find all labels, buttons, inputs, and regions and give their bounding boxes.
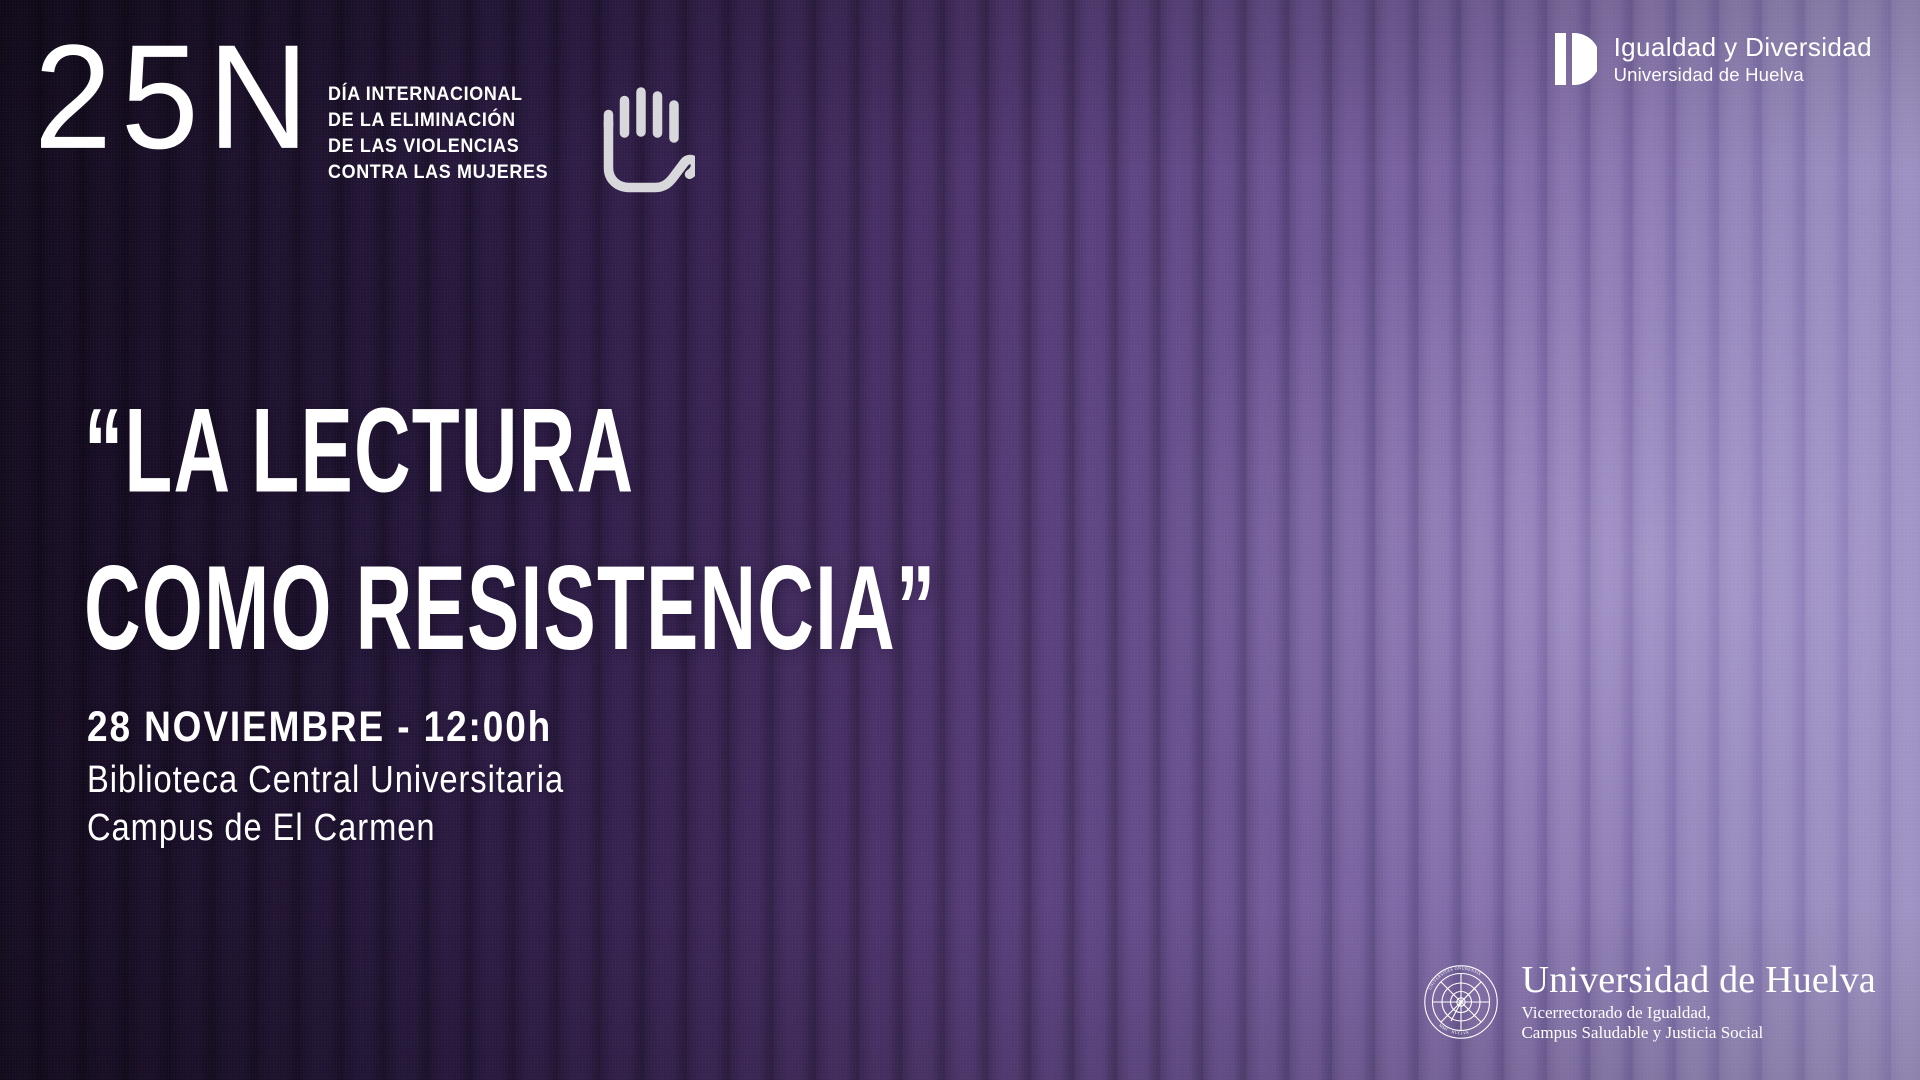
campaign-subtitle-line-4: CONTRA LAS MUJERES (328, 160, 548, 186)
campaign-subtitle-line-2: DE LA ELIMINACIÓN (328, 108, 548, 134)
campaign-code-25n: 25N (34, 26, 318, 168)
poster-canvas: 25N DÍA INTERNACIONAL DE LA ELIMINACIÓN … (0, 0, 1920, 1080)
campaign-subtitle-line-3: DE LAS VIOLENCIAS (328, 134, 548, 160)
headline-line-1: “LA LECTURA (84, 372, 936, 530)
event-venue: Biblioteca Central Universitaria (87, 757, 564, 805)
brand-universidad-huelva: UNIVERSITAS ONUBENSIS MMI · HUELVA Unive… (1423, 961, 1876, 1044)
event-details: 28 NOVIEMBRE - 12:00h Biblioteca Central… (87, 703, 564, 853)
campaign-lockup: 25N DÍA INTERNACIONAL DE LA ELIMINACIÓN … (34, 26, 695, 199)
brand-igualdad-line1: Igualdad y Diversidad (1614, 32, 1872, 62)
headline-line-2: COMO RESISTENCIA” (84, 530, 936, 688)
event-date-time: 28 NOVIEMBRE - 12:00h (87, 703, 564, 751)
event-campus: Campus de El Carmen (87, 805, 564, 853)
brand-uhu-name: Universidad de Huelva (1521, 961, 1876, 1000)
brand-uhu-unit-line2: Campus Saludable y Justicia Social (1521, 1023, 1876, 1044)
university-compass-seal-icon: UNIVERSITAS ONUBENSIS MMI · HUELVA (1423, 964, 1499, 1040)
brand-igualdad-line2: Universidad de Huelva (1614, 64, 1872, 86)
campaign-subtitle: DÍA INTERNACIONAL DE LA ELIMINACIÓN DE L… (328, 82, 548, 186)
id-halfcircle-logo-icon (1555, 33, 1597, 85)
brand-uhu-text: Universidad de Huelva Vicerrectorado de … (1521, 961, 1876, 1044)
raised-open-hand-stop-icon (591, 76, 695, 194)
brand-uhu-unit-line1: Vicerrectorado de Igualdad, (1521, 1003, 1876, 1024)
campaign-subtitle-line-1: DÍA INTERNACIONAL (328, 82, 548, 108)
svg-text:UNIVERSITAS ONUBENSIS: UNIVERSITAS ONUBENSIS (1428, 966, 1483, 991)
brand-igualdad-text: Igualdad y Diversidad Universidad de Hue… (1614, 32, 1872, 86)
page-title: “LA LECTURA COMO RESISTENCIA” (84, 372, 936, 688)
hand-icon-wrap (591, 76, 695, 199)
brand-igualdad-diversidad: Igualdad y Diversidad Universidad de Hue… (1555, 32, 1872, 86)
brand-uhu-unit: Vicerrectorado de Igualdad, Campus Salud… (1521, 1003, 1876, 1044)
id-halfcircle-logo-wrap (1555, 33, 1597, 85)
